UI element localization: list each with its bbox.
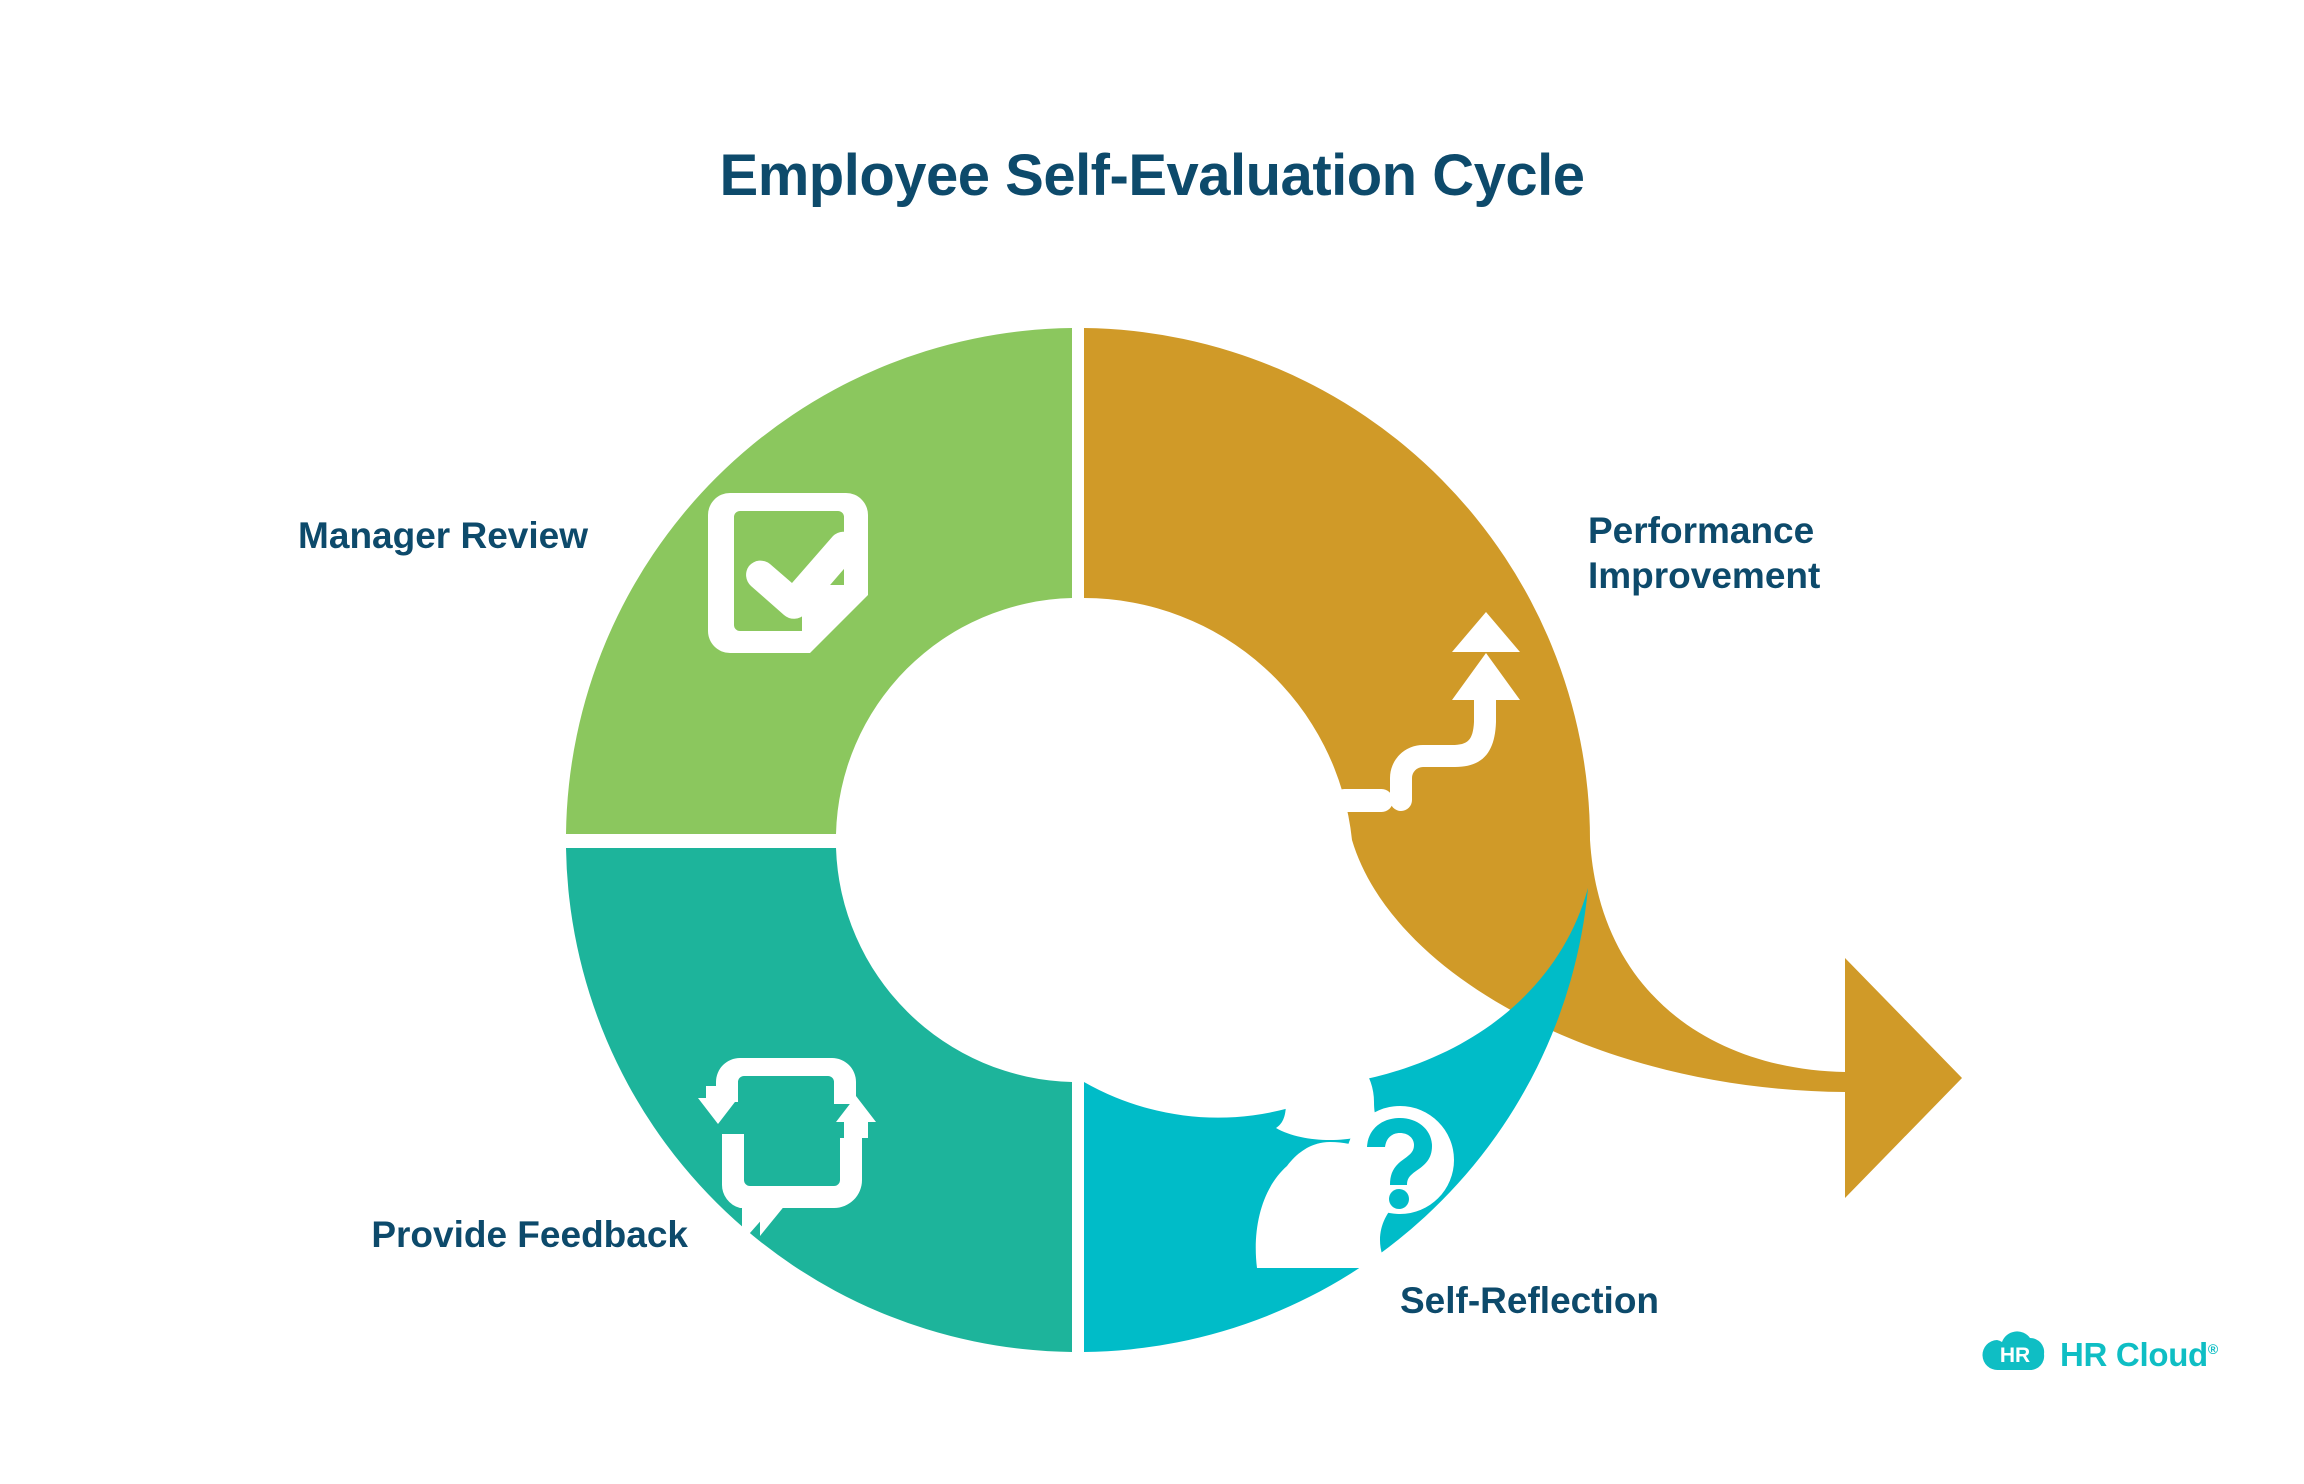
brand-name: HR Cloud <box>2060 1336 2208 1373</box>
label-manager-review: Manager Review <box>238 513 588 558</box>
label-performance-improvement: Performance Improvement <box>1588 508 2008 598</box>
label-self-reflection: Self-Reflection <box>1400 1278 1830 1323</box>
registered-mark: ® <box>2208 1341 2218 1357</box>
segment-manager-review[interactable] <box>566 328 1072 834</box>
logo-mark-text: HR <box>2000 1344 2030 1367</box>
infographic-canvas: Employee Self-Evaluation Cycle <box>0 0 2304 1484</box>
hr-cloud-logo[interactable]: HR HR Cloud® <box>1982 1328 2218 1382</box>
provide-feedback-shape[interactable] <box>566 848 1072 1352</box>
brand-name-text: HR Cloud® <box>2060 1336 2218 1374</box>
segment-provide-feedback[interactable] <box>566 848 1072 1352</box>
hr-cloud-logo-icon: HR <box>1982 1328 2048 1382</box>
label-provide-feedback: Provide Feedback <box>248 1212 688 1257</box>
cycle-diagram <box>0 0 2304 1484</box>
